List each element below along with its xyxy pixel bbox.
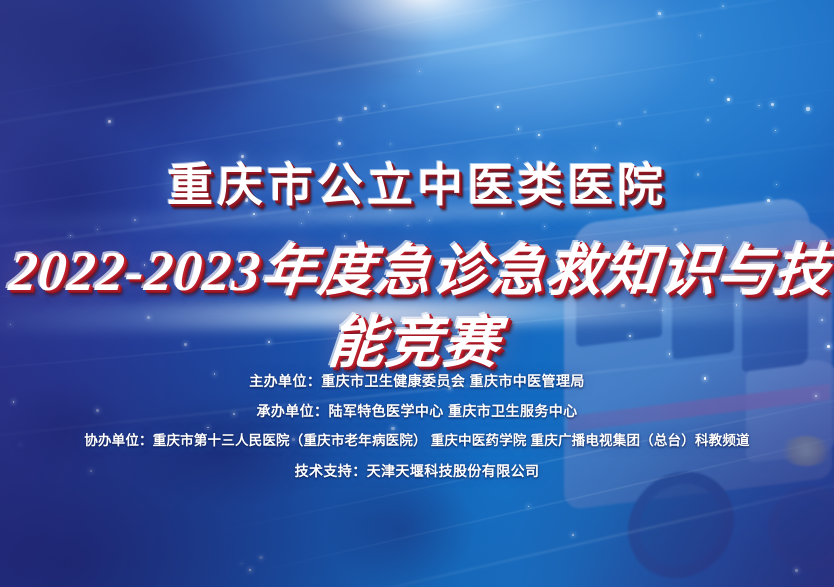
credits-block: 主办单位：重庆市卫生健康委员会 重庆市中医管理局 承办单位：陆军特色医学中心 重… xyxy=(0,366,834,486)
poster-subtitle: 2022-2023年度急诊急救知识与技能竞赛 xyxy=(0,236,834,380)
poster-text: 重庆市公立中医类医院 2022-2023年度急诊急救知识与技能竞赛 主办单位：重… xyxy=(0,0,834,587)
credit-host: 主办单位：重庆市卫生健康委员会 重庆市中医管理局 xyxy=(0,366,834,396)
credit-co-organizer: 协办单位：重庆市第十三人民医院（重庆市老年病医院） 重庆中医药学院 重庆广播电视… xyxy=(0,426,834,456)
credit-organizer: 承办单位：陆军特色医学中心 重庆市卫生服务中心 xyxy=(0,396,834,426)
page-title: 重庆市公立中医类医院 xyxy=(0,158,834,214)
competition-poster: 重庆市公立中医类医院 2022-2023年度急诊急救知识与技能竞赛 主办单位：重… xyxy=(0,0,834,587)
credit-tech-support: 技术支持：天津天堰科技股份有限公司 xyxy=(0,456,834,486)
